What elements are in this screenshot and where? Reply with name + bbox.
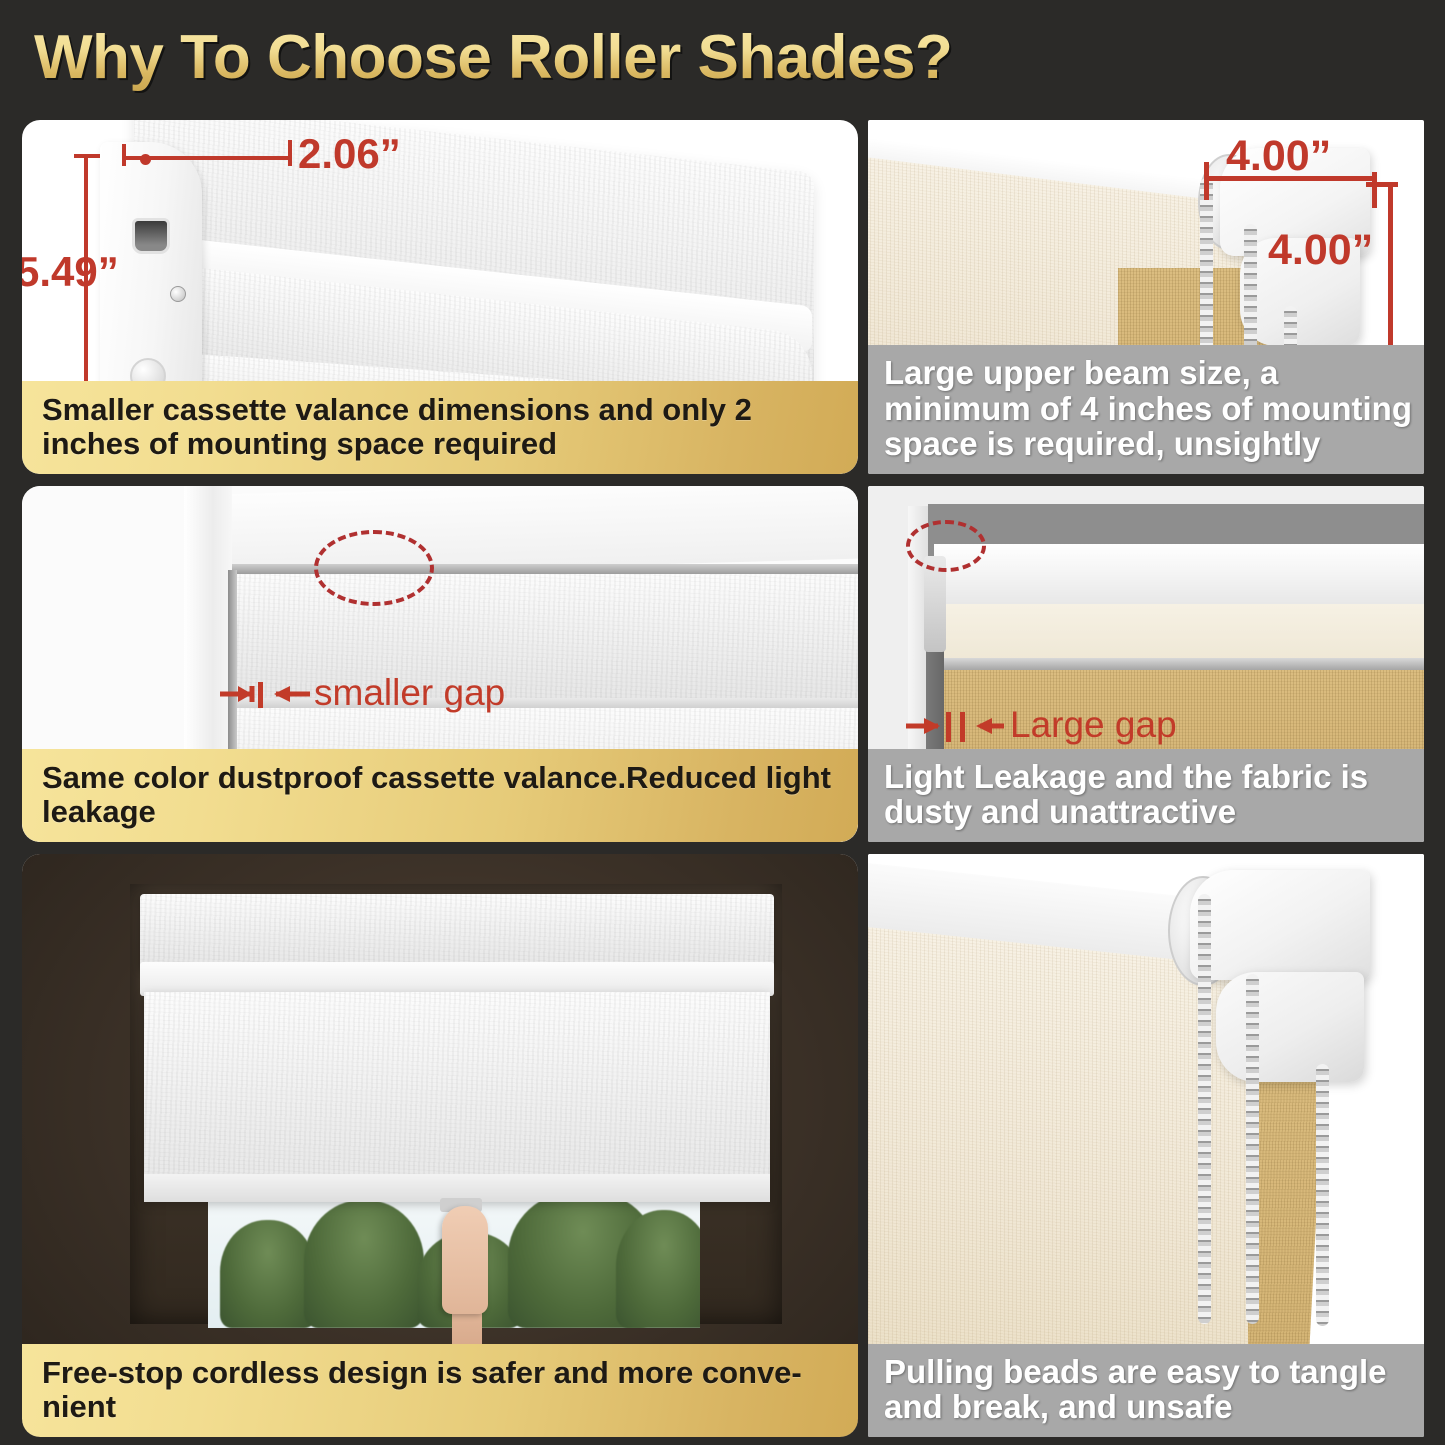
width-dim-tick-right — [288, 140, 292, 166]
panel-large-gap: Large gap Light Leakage and the fabric i… — [868, 486, 1424, 842]
end-cap-screw-icon — [170, 286, 186, 302]
tree-2 — [304, 1200, 424, 1328]
cream-fabric-band — [934, 604, 1424, 660]
height-dim-tick-top — [74, 154, 100, 158]
width-dim-tick-right — [1372, 172, 1377, 208]
gap-arrows-icon — [218, 676, 314, 712]
tree-5 — [616, 1210, 700, 1328]
smaller-gap-label: smaller gap — [314, 672, 505, 714]
highlight-circle-annotation — [314, 530, 434, 606]
metal-rail — [934, 658, 1424, 670]
large-gap-label: Large gap — [1010, 704, 1177, 746]
bead-chain-left — [1198, 894, 1211, 1324]
tree-1 — [220, 1220, 316, 1328]
height-dimension-label: 4.00” — [1268, 226, 1373, 275]
gap-arrows-icon — [904, 708, 1006, 744]
cassette-valance — [140, 894, 774, 968]
roller-shade-fabric — [144, 992, 770, 1200]
cassette-lip — [140, 962, 774, 996]
panel-2-caption: Large upper beam size, a minimum of 4 in… — [868, 345, 1424, 474]
panel-5-caption: Free-stop cordless design is safer and m… — [22, 1344, 858, 1437]
panel-smaller-cassette: 2.06” 5.49” Smaller cassette valance dim… — [22, 120, 858, 474]
panel-cordless-design: Free-stop cordless design is safer and m… — [22, 854, 858, 1437]
panel-smaller-gap: smaller gap Same color dustproof cassett… — [22, 486, 858, 842]
end-cap-slot — [132, 218, 170, 254]
width-dim-tick-left — [122, 144, 126, 166]
mounting-bracket-upper — [1190, 870, 1370, 980]
comparison-grid: 2.06” 5.49” Smaller cassette valance dim… — [0, 112, 1445, 1445]
title-bar: Why To Choose Roller Shades? — [0, 0, 1445, 112]
hand — [442, 1206, 488, 1314]
panel-4-caption: Light Leakage and the fabric is dusty an… — [868, 749, 1424, 842]
width-dim-line — [122, 156, 292, 160]
width-dimension-label: 2.06” — [298, 130, 401, 178]
mounting-bracket-lower — [1216, 972, 1364, 1082]
page-title: Why To Choose Roller Shades? — [34, 22, 952, 93]
panel-6-caption: Pulling beads are easy to tangle and bre… — [868, 1344, 1424, 1437]
panel-3-caption: Same color dustproof cassette valance.Re… — [22, 749, 858, 842]
bead-chain-right — [1316, 1064, 1329, 1326]
height-dim-tick-top — [1366, 182, 1398, 187]
width-dim-tick-left — [1204, 162, 1209, 200]
shade-fabric-front — [868, 925, 1248, 1387]
width-dimension-label: 4.00” — [1226, 132, 1331, 181]
height-dimension-label: 5.49” — [22, 248, 119, 296]
panel-1-caption: Smaller cassette valance dimensions and … — [22, 381, 858, 474]
highlight-circle-annotation — [906, 520, 986, 572]
panel-large-upper-beam: 4.00” 4.00” Large upper beam size, a min… — [868, 120, 1424, 474]
panel-pulling-beads: Pulling beads are easy to tangle and bre… — [868, 854, 1424, 1437]
bead-chain-mid — [1246, 974, 1259, 1324]
